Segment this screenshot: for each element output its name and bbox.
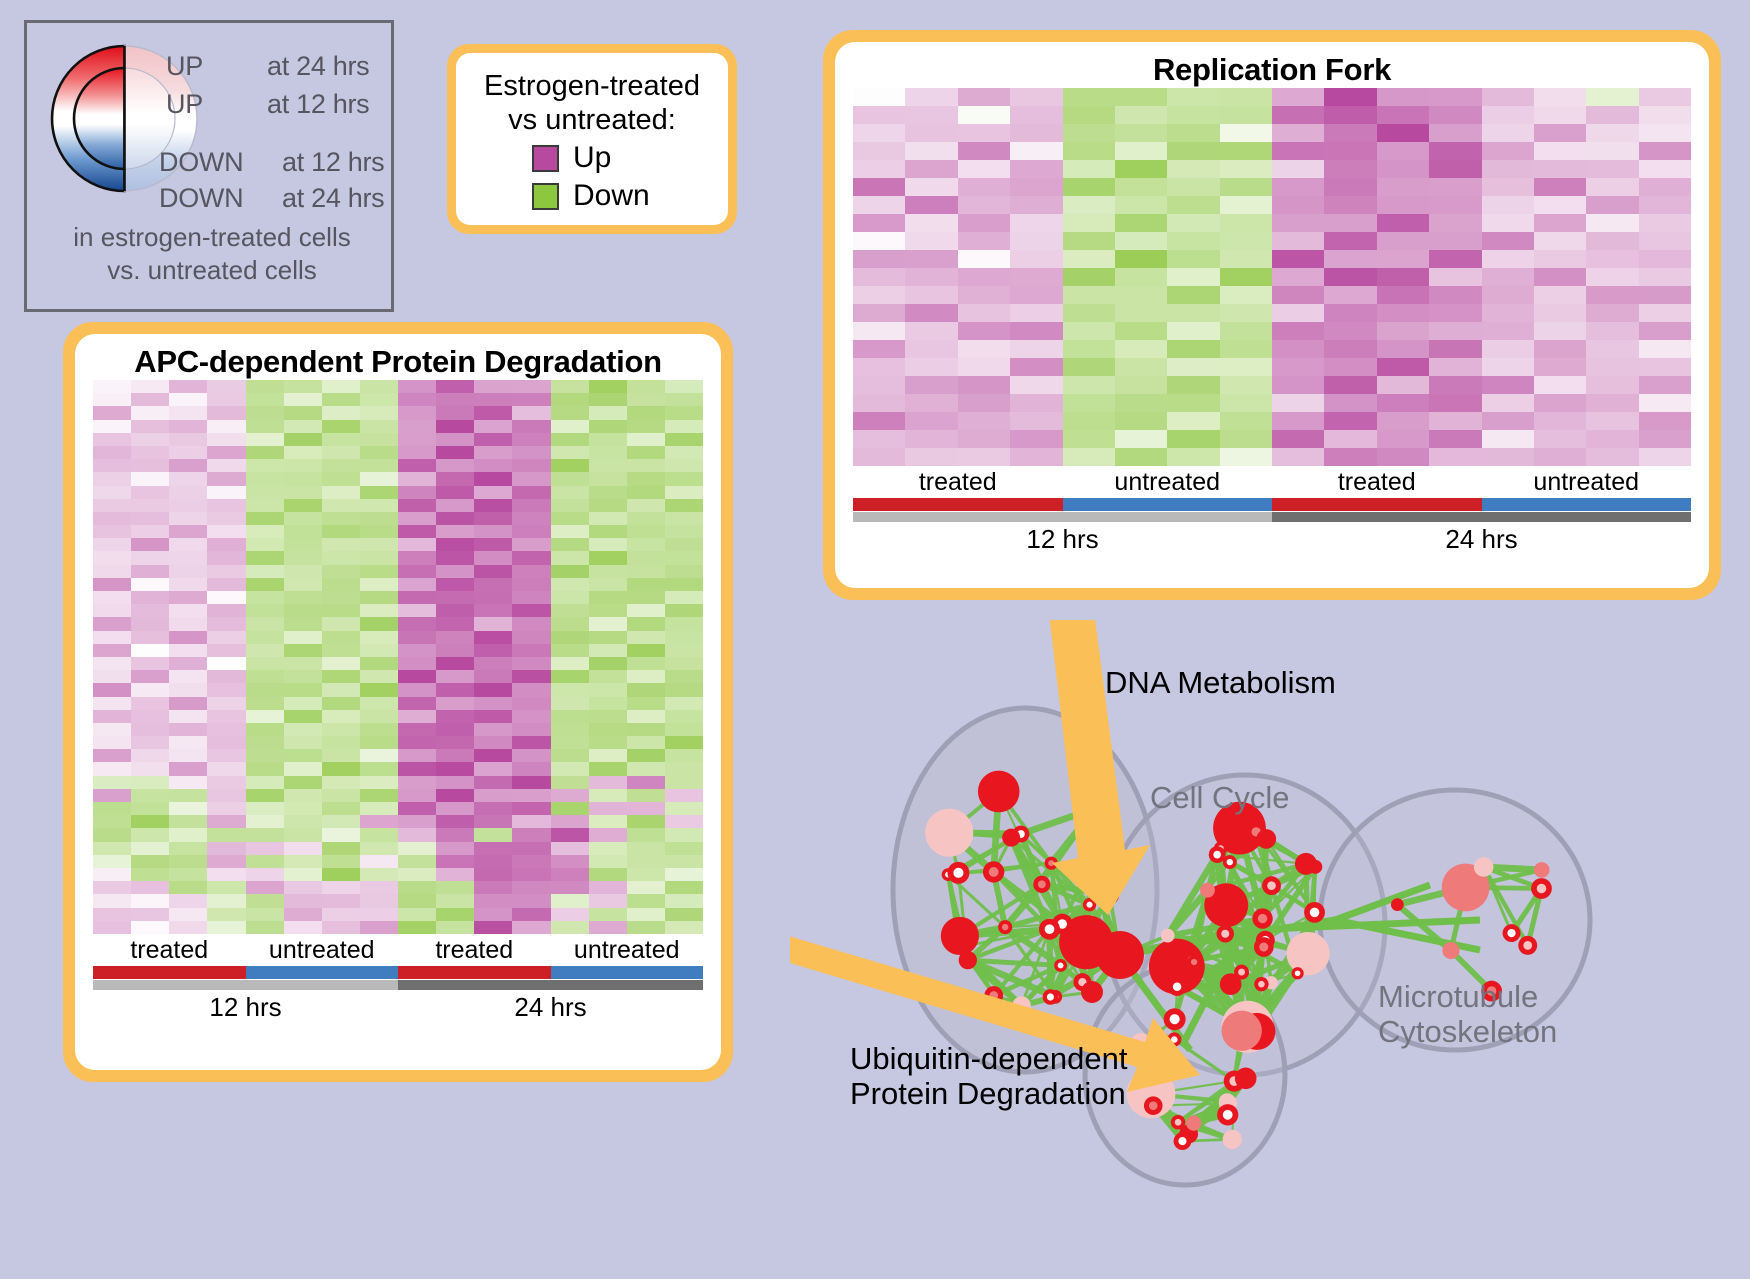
heatmap-cell <box>589 433 627 446</box>
heatmap-cell <box>905 286 957 304</box>
network-node[interactable] <box>1391 898 1404 911</box>
heatmap-cell <box>958 430 1010 448</box>
heatmap-cell <box>665 631 703 644</box>
node-inner <box>1227 859 1233 865</box>
heatmap-cell <box>398 762 436 775</box>
heatmap-cell <box>551 380 589 393</box>
heatmap-cell <box>1272 430 1324 448</box>
network-node[interactable] <box>1223 1130 1242 1149</box>
heatmap-cell <box>169 921 207 934</box>
heatmap-cell <box>93 433 131 446</box>
heatmap-cell <box>360 459 398 472</box>
heatmap-cell <box>1063 358 1115 376</box>
heatmap-cell <box>131 538 169 551</box>
heatmap-cell <box>322 446 360 459</box>
heatmap-cell <box>360 420 398 433</box>
heatmap-cell <box>589 538 627 551</box>
network-node[interactable] <box>1200 883 1215 898</box>
network-node[interactable] <box>1262 876 1281 895</box>
heatmap-cell <box>1534 142 1586 160</box>
heatmap-cell <box>589 828 627 841</box>
network-node[interactable] <box>925 809 973 857</box>
heatmap-cell <box>246 776 284 789</box>
heatmap-cell <box>93 631 131 644</box>
heatmap-cell <box>627 591 665 604</box>
heatmap-cell <box>627 881 665 894</box>
heatmap-cell <box>1115 394 1167 412</box>
heatmap-cell <box>512 631 550 644</box>
heatmap-cell <box>1534 196 1586 214</box>
cluster-label-ubiquitin-degradation: Ubiquitin-dependent Protein Degradation <box>850 1042 1128 1111</box>
heatmap-cell <box>1063 376 1115 394</box>
heatmap-cell <box>169 683 207 696</box>
heatmap-cell <box>93 617 131 630</box>
heatmap-cell <box>1115 142 1167 160</box>
heatmap-cell <box>958 322 1010 340</box>
heatmap-cell <box>627 433 665 446</box>
heatmap-cell <box>627 749 665 762</box>
heatmap-cell <box>436 406 474 419</box>
heatmap-cell <box>853 142 905 160</box>
heatmap-cell <box>169 815 207 828</box>
node-outer <box>978 771 1020 813</box>
heatmap-cell <box>551 499 589 512</box>
network-node[interactable] <box>1033 876 1050 893</box>
heatmap-cell <box>169 380 207 393</box>
heatmap-cell <box>627 657 665 670</box>
heatmap-cell <box>1010 196 1062 214</box>
heatmap-cell <box>360 802 398 815</box>
heatmap-cell <box>207 762 245 775</box>
heatmap-cell <box>246 657 284 670</box>
network-node[interactable] <box>1518 936 1537 955</box>
up-color-swatch <box>532 145 559 172</box>
heatmap-cell <box>93 776 131 789</box>
heatmap-cell <box>1272 178 1324 196</box>
time-labels-replication: 12 hrs 24 hrs <box>853 524 1691 555</box>
time-bar-12hrs <box>853 512 1272 522</box>
heatmap-cell <box>1063 178 1115 196</box>
network-node[interactable] <box>1081 981 1103 1003</box>
cond-bar-untreated-24 <box>551 966 704 979</box>
heatmap-cell <box>93 393 131 406</box>
heatmap-cell <box>284 433 322 446</box>
heatmap-cell <box>169 644 207 657</box>
heatmap-cell <box>1010 430 1062 448</box>
heatmap-cell <box>1063 196 1115 214</box>
heatmap-cell <box>360 815 398 828</box>
heatmap-cell <box>207 644 245 657</box>
network-node[interactable] <box>1161 929 1175 943</box>
heatmap-cell <box>284 393 322 406</box>
heatmap-cell <box>1063 232 1115 250</box>
heatmap-cell <box>284 591 322 604</box>
heatmap-cell <box>246 828 284 841</box>
heatmap-cell <box>905 232 957 250</box>
heatmap-cell <box>665 828 703 841</box>
network-node[interactable] <box>947 862 969 884</box>
heatmap-cell <box>169 472 207 485</box>
heatmap-cell <box>1429 376 1481 394</box>
heatmap-cell <box>1010 376 1062 394</box>
heatmap-cell <box>284 578 322 591</box>
heatmap-cell <box>360 868 398 881</box>
heatmap-cell <box>627 617 665 630</box>
heatmap-cell <box>93 446 131 459</box>
network-node[interactable] <box>1308 860 1322 874</box>
heatmap-cell <box>398 828 436 841</box>
heatmap-cell <box>322 776 360 789</box>
network-node[interactable] <box>1187 955 1201 969</box>
heatmap-cell <box>589 697 627 710</box>
heatmap-cell <box>360 710 398 723</box>
heatmap-cell <box>1377 304 1429 322</box>
condition-colorbar-apc <box>93 966 703 979</box>
heatmap-cell <box>474 604 512 617</box>
heatmap-cell <box>436 762 474 775</box>
heatmap-cell <box>284 551 322 564</box>
down-label: Down <box>573 179 650 213</box>
heatmap-cell <box>512 591 550 604</box>
heatmap-cell <box>322 578 360 591</box>
network-node[interactable] <box>1002 829 1020 847</box>
heatmap-cell <box>207 565 245 578</box>
heatmap-cell <box>1272 124 1324 142</box>
heatmap-cell <box>436 894 474 907</box>
node-inner <box>1175 1119 1182 1126</box>
network-node[interactable] <box>1252 908 1272 928</box>
network-node[interactable] <box>1054 959 1067 972</box>
heatmap-cell <box>627 525 665 538</box>
heatmap-cell <box>1167 376 1219 394</box>
time-colorbar-apc <box>93 980 703 990</box>
heatmap-cell <box>284 855 322 868</box>
heatmap-cell <box>627 762 665 775</box>
heatmap-cell <box>1063 268 1115 286</box>
heatmap-cell <box>958 286 1010 304</box>
heatmap-cell <box>589 591 627 604</box>
heatmap-cell <box>169 802 207 815</box>
heatmap-cell <box>1586 88 1638 106</box>
heatmap-cell <box>665 644 703 657</box>
heatmap-cell <box>512 525 550 538</box>
network-node[interactable] <box>1256 829 1276 849</box>
heatmap-cell <box>93 499 131 512</box>
heatmap-cell <box>246 617 284 630</box>
heatmap-cell <box>551 525 589 538</box>
network-node[interactable] <box>1254 937 1274 957</box>
heatmap-cell <box>1534 448 1586 466</box>
heatmap-cell <box>284 749 322 762</box>
heatmap-cell <box>1377 412 1429 430</box>
heatmap-cell <box>398 512 436 525</box>
node-inner <box>1213 851 1221 859</box>
heatmap-cell <box>474 525 512 538</box>
heatmap-cell <box>1377 376 1429 394</box>
heatmap-cell <box>207 446 245 459</box>
heatmap-cell <box>207 894 245 907</box>
heatmap-cell <box>93 723 131 736</box>
heatmap-cell <box>1429 88 1481 106</box>
network-node[interactable] <box>1286 932 1329 975</box>
heatmap-cell <box>853 106 905 124</box>
heatmap-cell <box>1010 412 1062 430</box>
heatmap-cell <box>246 565 284 578</box>
heatmap-cell <box>665 512 703 525</box>
heatmap-cell <box>360 842 398 855</box>
heatmap-cell <box>169 776 207 789</box>
heatmap-cell <box>398 433 436 446</box>
heatmap-cell <box>1482 340 1534 358</box>
heatmap-cell <box>360 578 398 591</box>
heatmap-cell <box>436 921 474 934</box>
network-node[interactable] <box>1220 973 1242 995</box>
heatmap-cell <box>207 591 245 604</box>
time-label-24hrs: 24 hrs <box>398 992 703 1023</box>
heatmap-cell <box>131 380 169 393</box>
heatmap-cell <box>436 578 474 591</box>
heatmap-cell <box>589 446 627 459</box>
heatmap-cell <box>93 565 131 578</box>
node-inner <box>1310 908 1320 918</box>
heatmap-cell <box>436 908 474 921</box>
heatmap-cell <box>436 749 474 762</box>
time-label-24hrs: 24 hrs <box>1272 524 1691 555</box>
heatmap-cell <box>665 525 703 538</box>
heatmap-cell <box>360 551 398 564</box>
heatmap-cell <box>436 697 474 710</box>
network-node[interactable] <box>1304 902 1325 923</box>
heatmap-cell <box>131 472 169 485</box>
heatmap-cell <box>131 551 169 564</box>
network-node[interactable] <box>1442 942 1459 959</box>
heatmap-cell <box>905 412 957 430</box>
heatmap-cell <box>93 406 131 419</box>
heatmap-cell <box>551 486 589 499</box>
network-node[interactable] <box>1222 1011 1262 1051</box>
heatmap-cell <box>360 855 398 868</box>
heatmap-cell <box>1063 448 1115 466</box>
network-node[interactable] <box>1209 846 1226 863</box>
heatmap-cell <box>512 420 550 433</box>
heatmap-cell <box>1115 196 1167 214</box>
heatmap-cell <box>436 828 474 841</box>
network-node[interactable] <box>1474 857 1494 877</box>
mt-line2: Cytoskeleton <box>1378 1015 1557 1050</box>
heatmap-cell <box>322 393 360 406</box>
heatmap-cell <box>246 578 284 591</box>
heatmap-cell <box>1115 430 1167 448</box>
node-inner <box>1507 929 1515 937</box>
heatmap-cell <box>853 412 905 430</box>
heatmap-cell <box>246 762 284 775</box>
heatmap-cell <box>627 604 665 617</box>
heatmap-cell <box>1586 430 1638 448</box>
heatmap-cell <box>360 433 398 446</box>
heatmap-cell <box>436 789 474 802</box>
heatmap-cell <box>246 631 284 644</box>
heatmap-cell <box>627 828 665 841</box>
heatmap-cell <box>1063 142 1115 160</box>
heatmap-cell <box>207 406 245 419</box>
heatmap-cell <box>512 762 550 775</box>
heatmap-cell <box>665 578 703 591</box>
heatmap-cell <box>1586 214 1638 232</box>
heatmap-cell <box>284 406 322 419</box>
heatmap-cell <box>1639 106 1691 124</box>
network-node[interactable] <box>959 951 977 969</box>
heatmap-cell <box>131 894 169 907</box>
node-outer <box>1081 981 1103 1003</box>
heatmap-cell <box>589 565 627 578</box>
heatmap-cell <box>1220 106 1272 124</box>
heatmap-cell <box>474 499 512 512</box>
network-node[interactable] <box>1291 967 1303 979</box>
heatmap-cell <box>1272 106 1324 124</box>
network-node[interactable] <box>1043 989 1059 1005</box>
heatmap-cell <box>551 842 589 855</box>
heatmap-cell <box>246 921 284 934</box>
heatmap-cell <box>398 472 436 485</box>
heatmap-cell <box>1586 268 1638 286</box>
heatmap-cell <box>1324 250 1376 268</box>
heatmap-cell <box>589 525 627 538</box>
heatmap-cell <box>1220 142 1272 160</box>
heatmap-cell <box>93 380 131 393</box>
heatmap-cell <box>284 697 322 710</box>
heatmap-cell <box>1586 124 1638 142</box>
network-node[interactable] <box>983 861 1004 882</box>
heatmap-cell <box>627 565 665 578</box>
heatmap-cell <box>665 842 703 855</box>
heatmap-cell <box>474 617 512 630</box>
network-node[interactable] <box>1168 977 1187 996</box>
network-node[interactable] <box>1144 1096 1163 1115</box>
heatmap-cell <box>169 578 207 591</box>
network-node[interactable] <box>1039 919 1060 940</box>
heatmap-cell <box>169 406 207 419</box>
heatmap-cell <box>207 578 245 591</box>
heatmap-cell <box>1534 358 1586 376</box>
heatmap-cell <box>207 657 245 670</box>
heatmap-cell <box>436 776 474 789</box>
heatmap-cell <box>551 393 589 406</box>
heatmap-cell <box>627 855 665 868</box>
heatmap-cell <box>131 591 169 604</box>
cond-label: untreated <box>551 936 704 965</box>
heatmap-cell <box>322 855 360 868</box>
heatmap-cell <box>1220 286 1272 304</box>
heatmap-cell <box>398 538 436 551</box>
heatmap-cell <box>1482 88 1534 106</box>
heatmap-cell <box>1167 88 1219 106</box>
heatmap-cell <box>169 868 207 881</box>
heatmap-cell <box>1429 340 1481 358</box>
heatmap-cell <box>551 776 589 789</box>
heatmap-cell <box>246 525 284 538</box>
network-node[interactable] <box>1235 1068 1257 1090</box>
heatmap-cell <box>551 459 589 472</box>
network-node[interactable] <box>1174 1132 1192 1150</box>
network-node[interactable] <box>1531 878 1552 899</box>
heatmap-cell <box>551 802 589 815</box>
heatmap-cell <box>905 88 957 106</box>
heatmap-cell <box>1324 124 1376 142</box>
network-node[interactable] <box>1534 862 1550 878</box>
heatmap-cell <box>1639 268 1691 286</box>
node-inner <box>1170 1014 1180 1024</box>
heatmap-cell <box>1272 88 1324 106</box>
heatmap-cell <box>627 736 665 749</box>
heatmap-cell <box>627 578 665 591</box>
heatmap-cell <box>246 591 284 604</box>
heatmap-cell <box>665 551 703 564</box>
network-node[interactable] <box>1254 977 1268 991</box>
heatmap-cell <box>853 124 905 142</box>
network-node[interactable] <box>978 771 1020 813</box>
heatmap-cell <box>436 459 474 472</box>
heatmap-cell <box>512 723 550 736</box>
node-inner <box>1259 942 1268 951</box>
heatmap-cell <box>284 881 322 894</box>
node-outer <box>1391 898 1404 911</box>
heatmap-cell <box>436 881 474 894</box>
heatmap-cell <box>436 472 474 485</box>
heatmap-cell <box>905 304 957 322</box>
heatmap-cell <box>322 565 360 578</box>
network-node[interactable] <box>998 920 1012 934</box>
heatmap-cell <box>246 486 284 499</box>
heatmap-cell <box>1272 286 1324 304</box>
network-node[interactable] <box>1164 1008 1186 1030</box>
network-node[interactable] <box>1217 925 1234 942</box>
heatmap-cell <box>1010 142 1062 160</box>
network-node[interactable] <box>1503 924 1521 942</box>
heatmap-cell <box>131 420 169 433</box>
heatmap-cell <box>246 894 284 907</box>
heatmap-cell <box>551 420 589 433</box>
node-inner <box>1223 1110 1233 1120</box>
heatmap-cell <box>207 538 245 551</box>
heatmap-cell <box>207 512 245 525</box>
network-node[interactable] <box>1186 1116 1201 1131</box>
heatmap-cell <box>360 908 398 921</box>
heatmap-cell <box>905 178 957 196</box>
network-node[interactable] <box>1096 931 1144 979</box>
network-node[interactable] <box>1217 1104 1238 1125</box>
cluster-label-cell-cycle: Cell Cycle <box>1150 780 1290 816</box>
heatmap-cell <box>1482 376 1534 394</box>
heatmap-cell <box>246 802 284 815</box>
heatmap-cell <box>1377 88 1429 106</box>
heatmap-cell <box>1429 304 1481 322</box>
heatmap-cell <box>1167 358 1219 376</box>
heatmap-cell <box>1220 358 1272 376</box>
heatmap-cell <box>360 565 398 578</box>
heatmap-cell <box>1272 268 1324 286</box>
node-inner <box>1238 969 1245 976</box>
heatmap-cell <box>1272 196 1324 214</box>
node-outer <box>1222 1011 1262 1051</box>
node-outer <box>1534 862 1550 878</box>
heatmap-cell <box>665 472 703 485</box>
network-node[interactable] <box>1171 1115 1186 1130</box>
heatmap-cell <box>665 749 703 762</box>
heatmap-cell <box>551 406 589 419</box>
heatmap-cell <box>1220 430 1272 448</box>
heatmap-cell <box>589 908 627 921</box>
heatmap-cell <box>1639 340 1691 358</box>
